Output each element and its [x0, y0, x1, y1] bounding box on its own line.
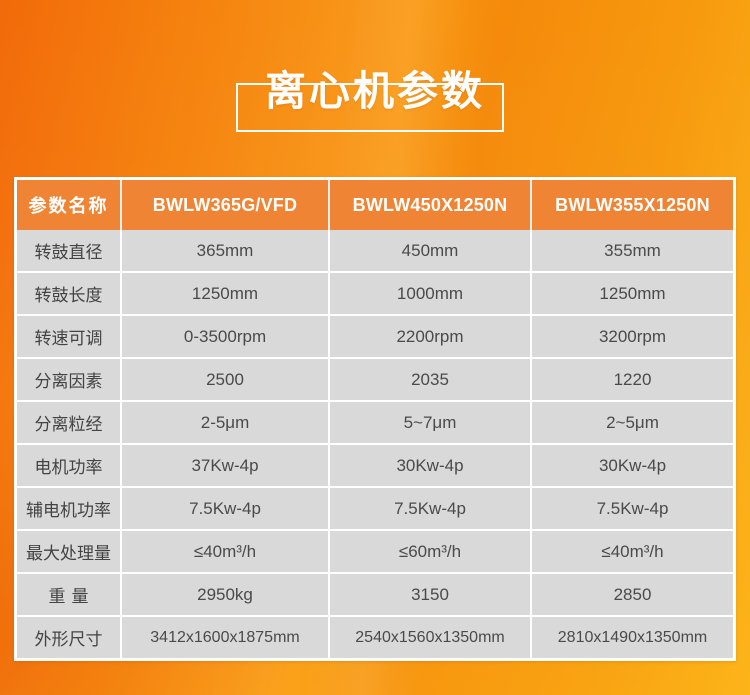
- cell-max-capacity-model-1: ≤40m³/h: [121, 530, 329, 573]
- row-label-overall-dimensions: 外形尺寸: [17, 616, 121, 658]
- cell-auxiliary-motor-power-model-1: 7.5Kw-4p: [121, 487, 329, 530]
- page-title: 离心机参数: [0, 66, 750, 116]
- row-label-adjustable-speed: 转速可调: [17, 315, 121, 358]
- cell-drum-diameter-model-1: 365mm: [121, 230, 329, 272]
- row-label-particle-size: 分离粒经: [17, 401, 121, 444]
- cell-particle-size-model-3: 2~5μm: [531, 401, 733, 444]
- table-row: 外形尺寸 3412x1600x1875mm 2540x1560x1350mm 2…: [17, 616, 733, 658]
- row-label-drum-length: 转鼓长度: [17, 272, 121, 315]
- spec-table-container: 参数名称 BWLW365G/VFD BWLW450X1250N BWLW355X…: [14, 177, 736, 661]
- table-row: 转速可调 0-3500rpm 2200rpm 3200rpm: [17, 315, 733, 358]
- row-label-max-capacity: 最大处理量: [17, 530, 121, 573]
- cell-weight-model-2: 3150: [329, 573, 531, 616]
- cell-overall-dimensions-model-3: 2810x1490x1350mm: [531, 616, 733, 658]
- cell-overall-dimensions-model-2: 2540x1560x1350mm: [329, 616, 531, 658]
- cell-weight-model-3: 2850: [531, 573, 733, 616]
- row-label-separation-factor: 分离因素: [17, 358, 121, 401]
- cell-drum-diameter-model-2: 450mm: [329, 230, 531, 272]
- centrifuge-spec-table: 参数名称 BWLW365G/VFD BWLW450X1250N BWLW355X…: [17, 180, 733, 658]
- cell-motor-power-model-3: 30Kw-4p: [531, 444, 733, 487]
- table-row: 分离粒经 2-5μm 5~7μm 2~5μm: [17, 401, 733, 444]
- cell-motor-power-model-1: 37Kw-4p: [121, 444, 329, 487]
- cell-auxiliary-motor-power-model-3: 7.5Kw-4p: [531, 487, 733, 530]
- table-row: 分离因素 2500 2035 1220: [17, 358, 733, 401]
- cell-max-capacity-model-3: ≤40m³/h: [531, 530, 733, 573]
- row-label-auxiliary-motor-power: 辅电机功率: [17, 487, 121, 530]
- cell-overall-dimensions-model-1: 3412x1600x1875mm: [121, 616, 329, 658]
- table-header-row: 参数名称 BWLW365G/VFD BWLW450X1250N BWLW355X…: [17, 180, 733, 230]
- table-row: 转鼓长度 1250mm 1000mm 1250mm: [17, 272, 733, 315]
- cell-particle-size-model-2: 5~7μm: [329, 401, 531, 444]
- cell-motor-power-model-2: 30Kw-4p: [329, 444, 531, 487]
- table-row: 重量 2950kg 3150 2850: [17, 573, 733, 616]
- cell-adjustable-speed-model-1: 0-3500rpm: [121, 315, 329, 358]
- cell-drum-length-model-3: 1250mm: [531, 272, 733, 315]
- column-header-model-3: BWLW355X1250N: [531, 180, 733, 230]
- table-row: 辅电机功率 7.5Kw-4p 7.5Kw-4p 7.5Kw-4p: [17, 487, 733, 530]
- column-header-model-1: BWLW365G/VFD: [121, 180, 329, 230]
- cell-weight-model-1: 2950kg: [121, 573, 329, 616]
- cell-max-capacity-model-2: ≤60m³/h: [329, 530, 531, 573]
- row-label-motor-power: 电机功率: [17, 444, 121, 487]
- title-banner: 离心机参数: [0, 48, 750, 158]
- cell-separation-factor-model-1: 2500: [121, 358, 329, 401]
- cell-separation-factor-model-3: 1220: [531, 358, 733, 401]
- table-row: 转鼓直径 365mm 450mm 355mm: [17, 230, 733, 272]
- row-label-drum-diameter: 转鼓直径: [17, 230, 121, 272]
- cell-drum-length-model-2: 1000mm: [329, 272, 531, 315]
- table-header: 参数名称 BWLW365G/VFD BWLW450X1250N BWLW355X…: [17, 180, 733, 230]
- cell-particle-size-model-1: 2-5μm: [121, 401, 329, 444]
- cell-drum-diameter-model-3: 355mm: [531, 230, 733, 272]
- table-row: 最大处理量 ≤40m³/h ≤60m³/h ≤40m³/h: [17, 530, 733, 573]
- cell-adjustable-speed-model-3: 3200rpm: [531, 315, 733, 358]
- cell-adjustable-speed-model-2: 2200rpm: [329, 315, 531, 358]
- table-row: 电机功率 37Kw-4p 30Kw-4p 30Kw-4p: [17, 444, 733, 487]
- table-body: 转鼓直径 365mm 450mm 355mm 转鼓长度 1250mm 1000m…: [17, 230, 733, 658]
- cell-drum-length-model-1: 1250mm: [121, 272, 329, 315]
- page-root: 离心机参数 参数名称 BWLW365G/VFD BWLW450X1250N BW…: [0, 0, 750, 695]
- column-header-parameter-name: 参数名称: [17, 180, 121, 230]
- cell-separation-factor-model-2: 2035: [329, 358, 531, 401]
- column-header-model-2: BWLW450X1250N: [329, 180, 531, 230]
- row-label-weight: 重量: [17, 573, 121, 616]
- cell-auxiliary-motor-power-model-2: 7.5Kw-4p: [329, 487, 531, 530]
